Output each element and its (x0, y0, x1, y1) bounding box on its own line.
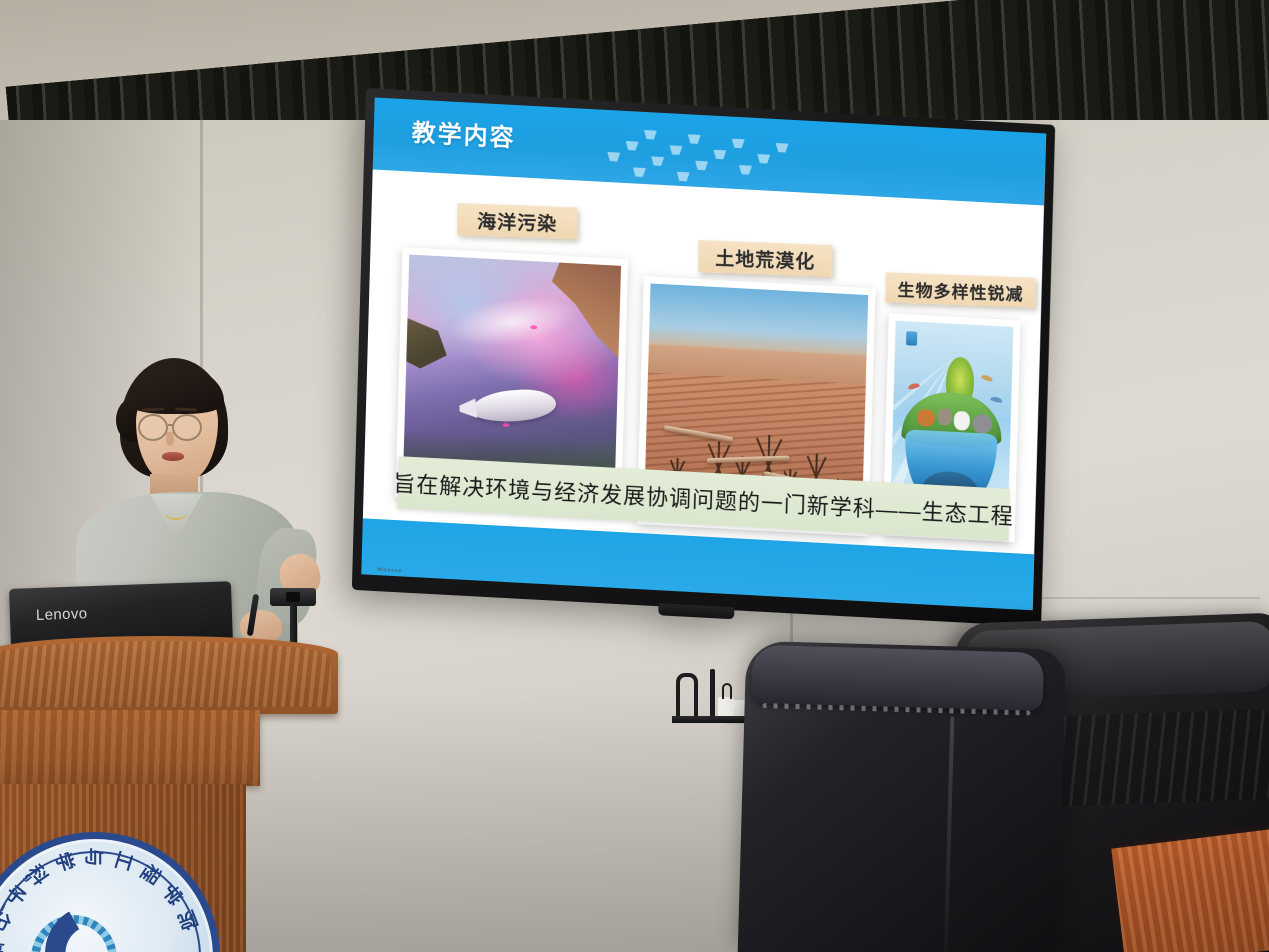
panel-label-ocean: 海洋污染 (457, 203, 577, 239)
panel-label-desert: 土地荒漠化 (698, 240, 832, 277)
tv-screen[interactable]: 教学内容 (361, 97, 1046, 610)
presenter-nose (166, 432, 174, 446)
panel-label-biodiversity: 生物多样性锐减 (885, 272, 1035, 307)
tv-brand-label: Hisense (377, 567, 402, 574)
conference-chair (738, 641, 1067, 952)
bracket-bar (710, 669, 715, 717)
bracket-hook (676, 673, 698, 717)
wooden-podium: 高分子科学与工程学院 School Engineering UST (0, 636, 354, 952)
chair-seam (944, 716, 955, 952)
glasses-icon (138, 414, 168, 441)
slide-title: 教学内容 (411, 113, 516, 154)
bracket-plug (718, 697, 734, 717)
podium-top-surface (0, 636, 338, 714)
bracket-cable (722, 683, 732, 699)
glasses-bridge (168, 424, 174, 426)
seal-chinese-text: 高分子科学与工程学院 (0, 839, 213, 952)
glasses-icon (172, 414, 202, 441)
wall-mounted-tv[interactable]: 教学内容 (352, 88, 1055, 627)
conference-table (1111, 828, 1269, 952)
presenter-mouth (162, 452, 184, 461)
poster-logo-icon (906, 332, 917, 347)
lecture-room-scene: 教学内容 (0, 0, 1269, 952)
tv-bezel: 教学内容 (352, 88, 1055, 627)
slide-body: 生态环境保护 海洋污染 土地荒漠化 生物多样性锐减 旨在解决环境与经济发展协调问… (363, 169, 1044, 554)
laptop-brand-logo: Lenovo (36, 605, 88, 624)
university-seal: 高分子科学与工程学院 School Engineering UST (0, 832, 220, 952)
podium-mid-panel (0, 710, 260, 786)
bracket-shelf (672, 716, 746, 723)
presentation-slide: 教学内容 (361, 97, 1046, 610)
wall-mounted-bracket (672, 655, 750, 723)
presenter-necklace (164, 504, 188, 520)
chair-headrest (751, 645, 1045, 711)
